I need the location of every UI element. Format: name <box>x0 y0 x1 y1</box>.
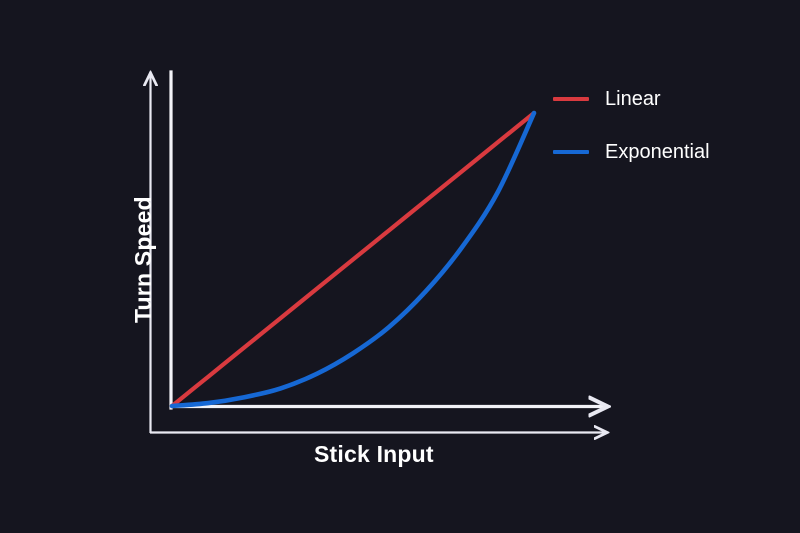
legend-label-exponential: Exponential <box>605 142 710 162</box>
x-axis-label: Stick Input <box>314 441 434 468</box>
legend-item-exponential[interactable]: Exponential <box>553 138 710 166</box>
legend-swatch-exponential-icon <box>553 150 589 154</box>
y-axis-label: Turn Speed <box>130 196 157 323</box>
chart-canvas: Turn Speed Stick Input Linear Exponentia… <box>0 0 800 533</box>
chart-legend: Linear Exponential <box>553 85 710 166</box>
series-line-linear <box>172 113 534 406</box>
legend-label-linear: Linear <box>605 89 661 109</box>
legend-swatch-linear-icon <box>553 97 589 101</box>
legend-item-linear[interactable]: Linear <box>553 85 710 113</box>
